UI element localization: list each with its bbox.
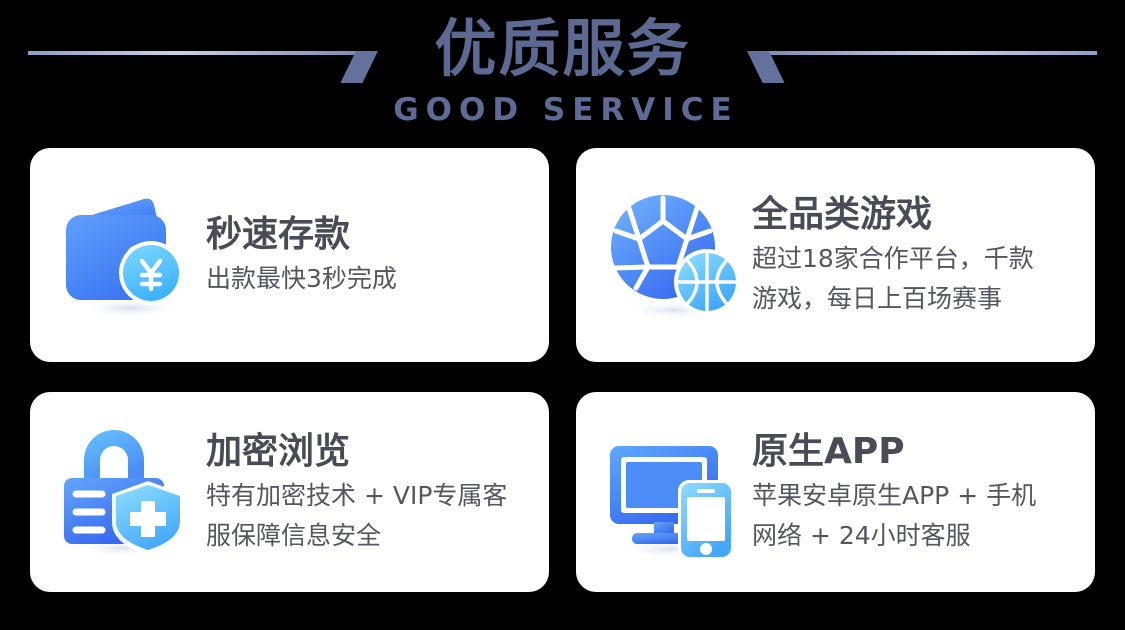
- feature-title: 全品类游戏: [752, 191, 1081, 239]
- feature-card-games[interactable]: 全品类游戏 超过18家合作平台，千款 游戏，每日上百场赛事: [576, 148, 1095, 362]
- feature-description: 出款最快3秒完成: [206, 259, 535, 299]
- feature-description-line: 网络 + 24小时客服: [752, 516, 1081, 556]
- feature-card-deposit[interactable]: 秒速存款 出款最快3秒完成: [30, 148, 549, 362]
- feature-description: 超过18家合作平台，千款 游戏，每日上百场赛事: [752, 239, 1081, 319]
- feature-title: 原生APP: [752, 428, 1081, 476]
- page-title: 优质服务: [0, 6, 1125, 92]
- feature-description-line: 苹果安卓原生APP + 手机: [752, 476, 1081, 516]
- feature-card-text: 原生APP 苹果安卓原生APP + 手机 网络 + 24小时客服: [744, 428, 1081, 556]
- feature-card-encryption[interactable]: 加密浏览 特有加密技术 + VIP专属客 服保障信息安全: [30, 392, 549, 592]
- page-subtitle: GOOD SERVICE: [0, 92, 1125, 128]
- soccer-basketball-icon: [604, 185, 744, 325]
- feature-description-line: 超过18家合作平台，千款: [752, 239, 1081, 279]
- feature-description: 苹果安卓原生APP + 手机 网络 + 24小时客服: [752, 476, 1081, 556]
- feature-card-text: 加密浏览 特有加密技术 + VIP专属客 服保障信息安全: [198, 428, 535, 556]
- feature-card-native-app[interactable]: 原生APP 苹果安卓原生APP + 手机 网络 + 24小时客服: [576, 392, 1095, 592]
- feature-description-line: 游戏，每日上百场赛事: [752, 279, 1081, 319]
- monitor-phone-icon: [604, 422, 744, 562]
- feature-title: 加密浏览: [206, 428, 535, 476]
- feature-description-line: 特有加密技术 + VIP专属客: [206, 476, 535, 516]
- lock-shield-icon: [58, 422, 198, 562]
- feature-card-text: 秒速存款 出款最快3秒完成: [198, 211, 535, 299]
- feature-description-line: 服保障信息安全: [206, 516, 535, 556]
- wallet-yen-icon: [58, 185, 198, 325]
- feature-description-line: 出款最快3秒完成: [206, 259, 535, 299]
- feature-card-grid: 秒速存款 出款最快3秒完成: [30, 148, 1095, 592]
- feature-title: 秒速存款: [206, 211, 535, 259]
- header-text-block: 优质服务 GOOD SERVICE: [0, 6, 1125, 128]
- feature-description: 特有加密技术 + VIP专属客 服保障信息安全: [206, 476, 535, 556]
- page-header: 优质服务 GOOD SERVICE: [0, 0, 1125, 142]
- feature-card-text: 全品类游戏 超过18家合作平台，千款 游戏，每日上百场赛事: [744, 191, 1081, 319]
